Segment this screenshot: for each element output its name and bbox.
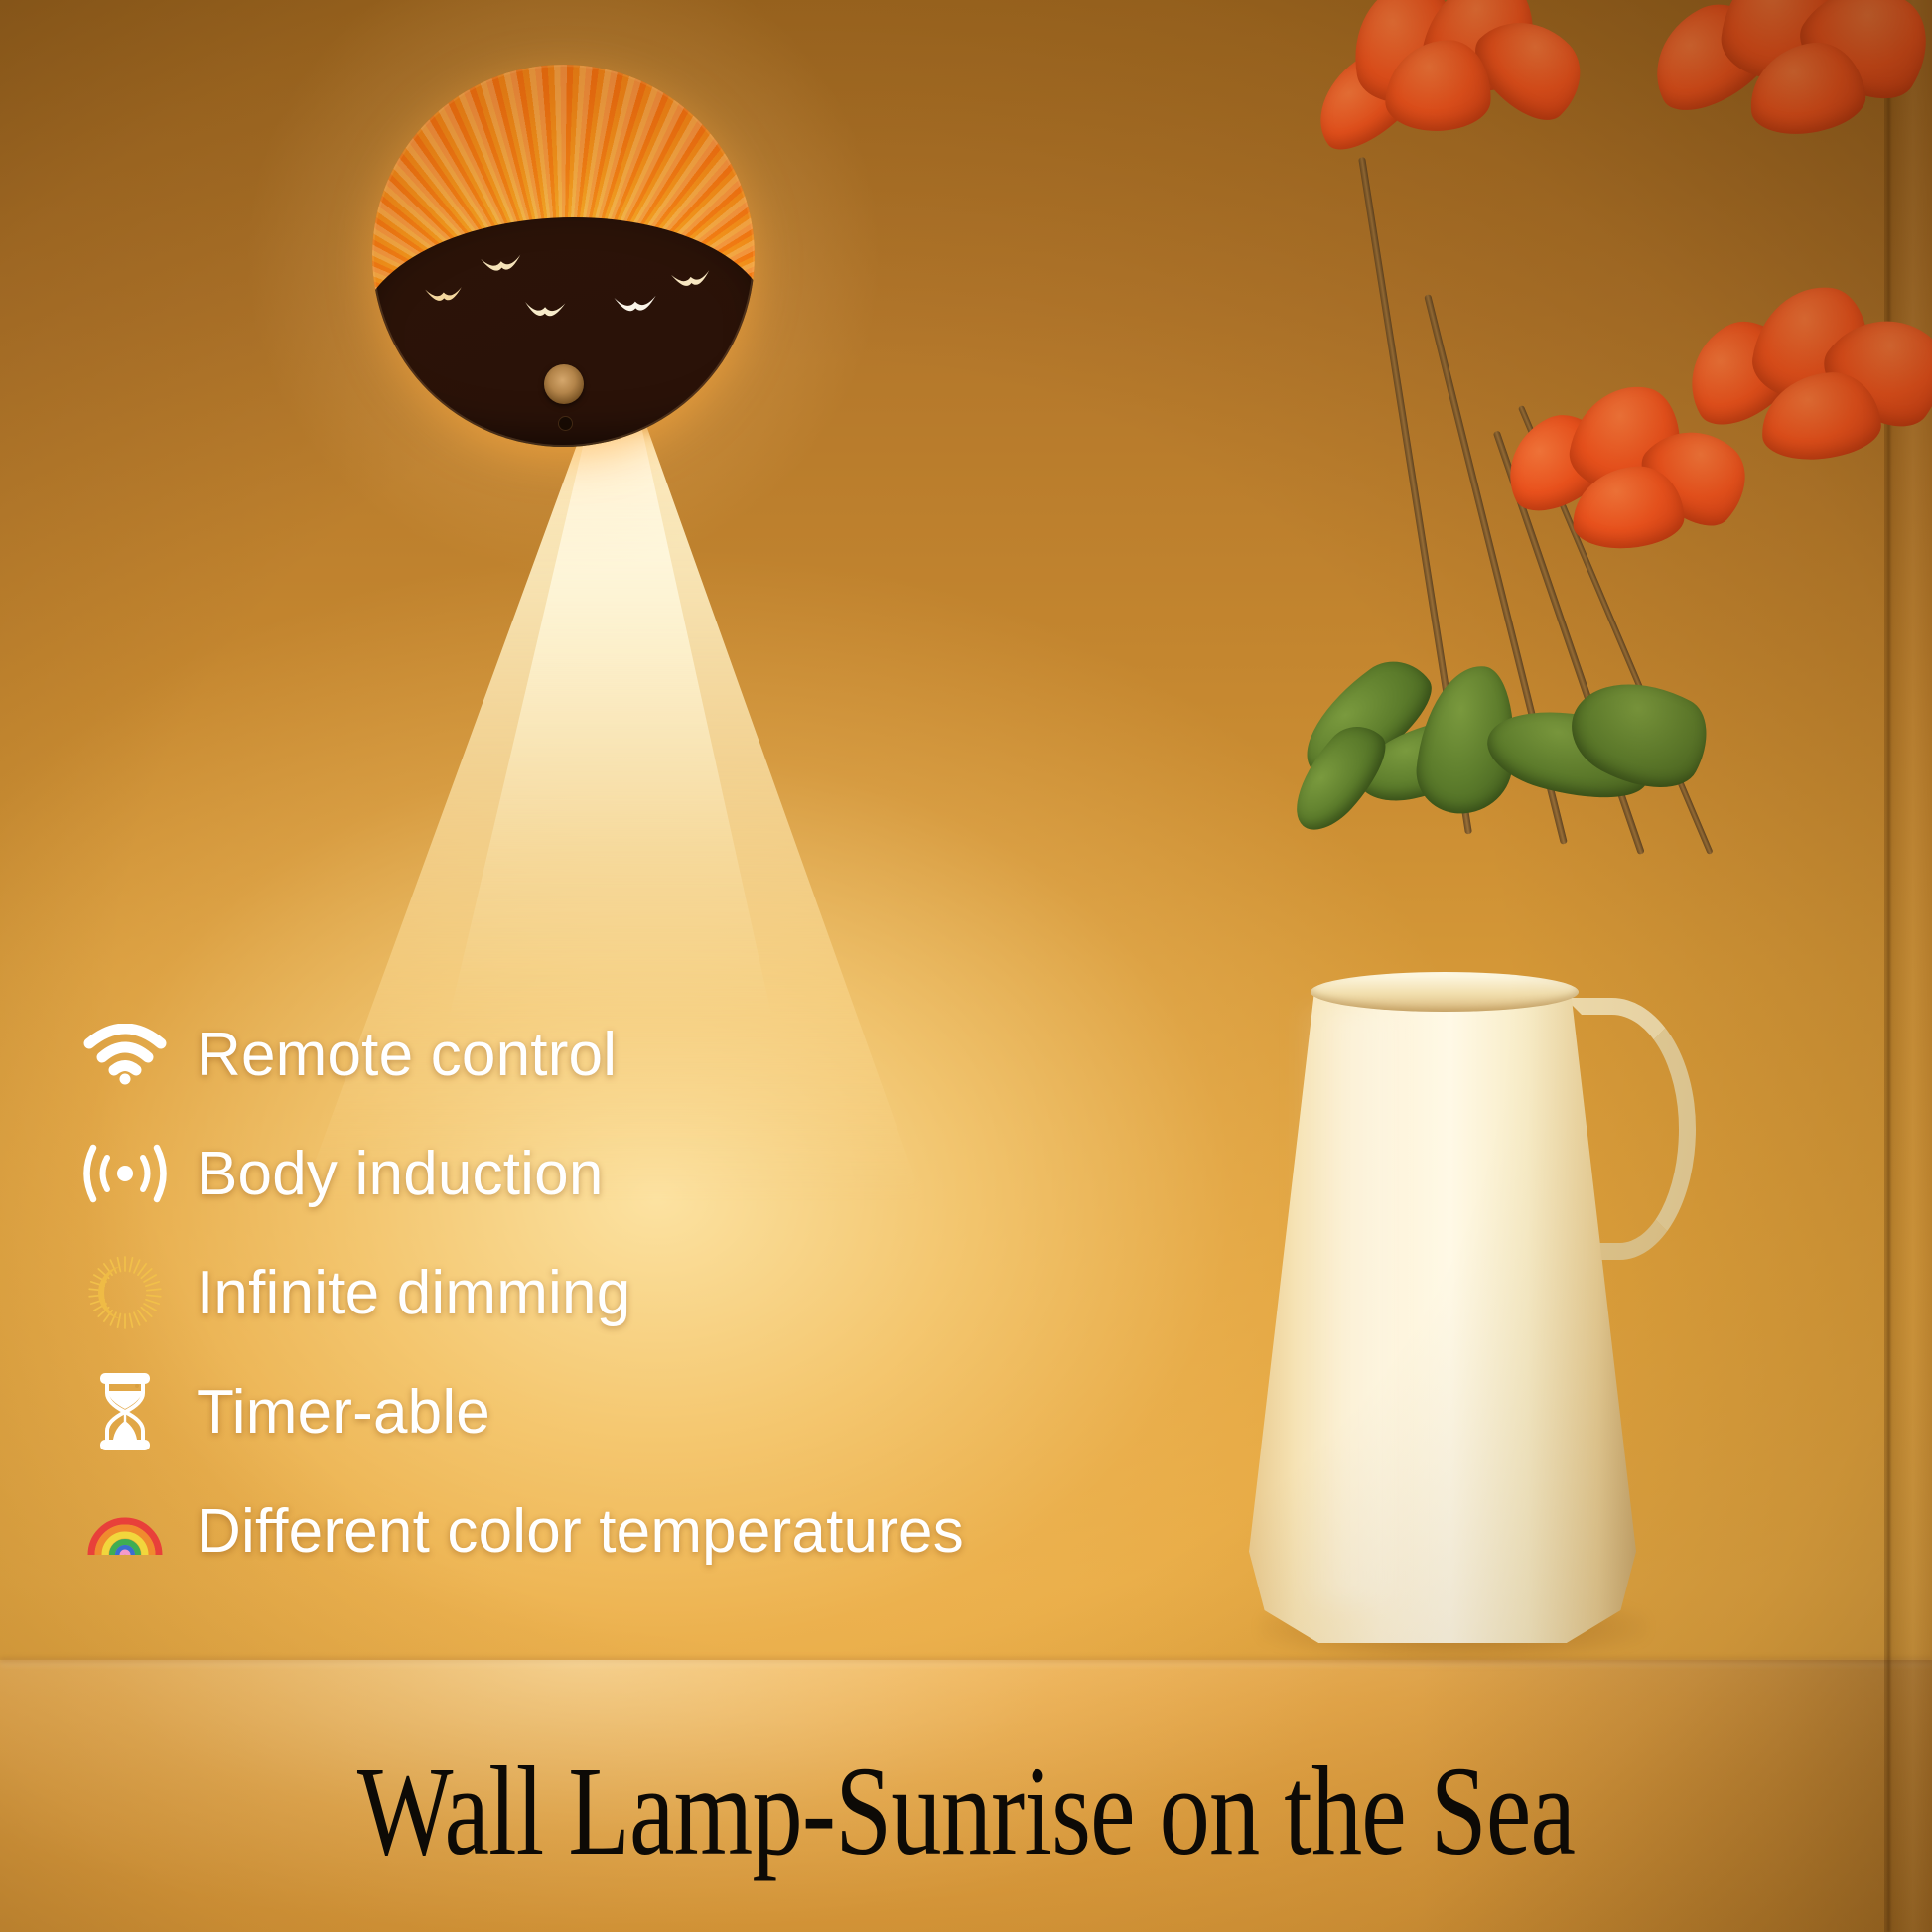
wifi-icon — [77, 1013, 173, 1096]
image-vignette — [0, 0, 1932, 1932]
feature-label: Infinite dimming — [197, 1258, 630, 1328]
feature-item-color-temperatures: Different color temperatures — [77, 1471, 1070, 1590]
feature-item-infinite-dimming: Infinite dimming — [77, 1233, 1070, 1352]
feature-item-body-induction: Body induction — [77, 1114, 1070, 1233]
feature-label: Timer-able — [197, 1377, 490, 1448]
feature-label: Remote control — [197, 1020, 617, 1090]
feature-label: Body induction — [197, 1139, 604, 1209]
sensor-icon — [77, 1132, 173, 1215]
feature-item-timer-able: Timer-able — [77, 1352, 1070, 1471]
dimming-icon — [77, 1251, 173, 1334]
page-title: Wall Lamp-Sunrise on the Sea — [194, 1747, 1739, 1874]
feature-label: Different color temperatures — [197, 1496, 964, 1567]
feature-list: Remote control Body induction — [77, 995, 1070, 1590]
product-image-scene: Remote control Body induction — [0, 0, 1932, 1932]
feature-item-remote-control: Remote control — [77, 995, 1070, 1114]
rainbow-icon — [77, 1489, 173, 1573]
hourglass-icon — [77, 1370, 173, 1453]
